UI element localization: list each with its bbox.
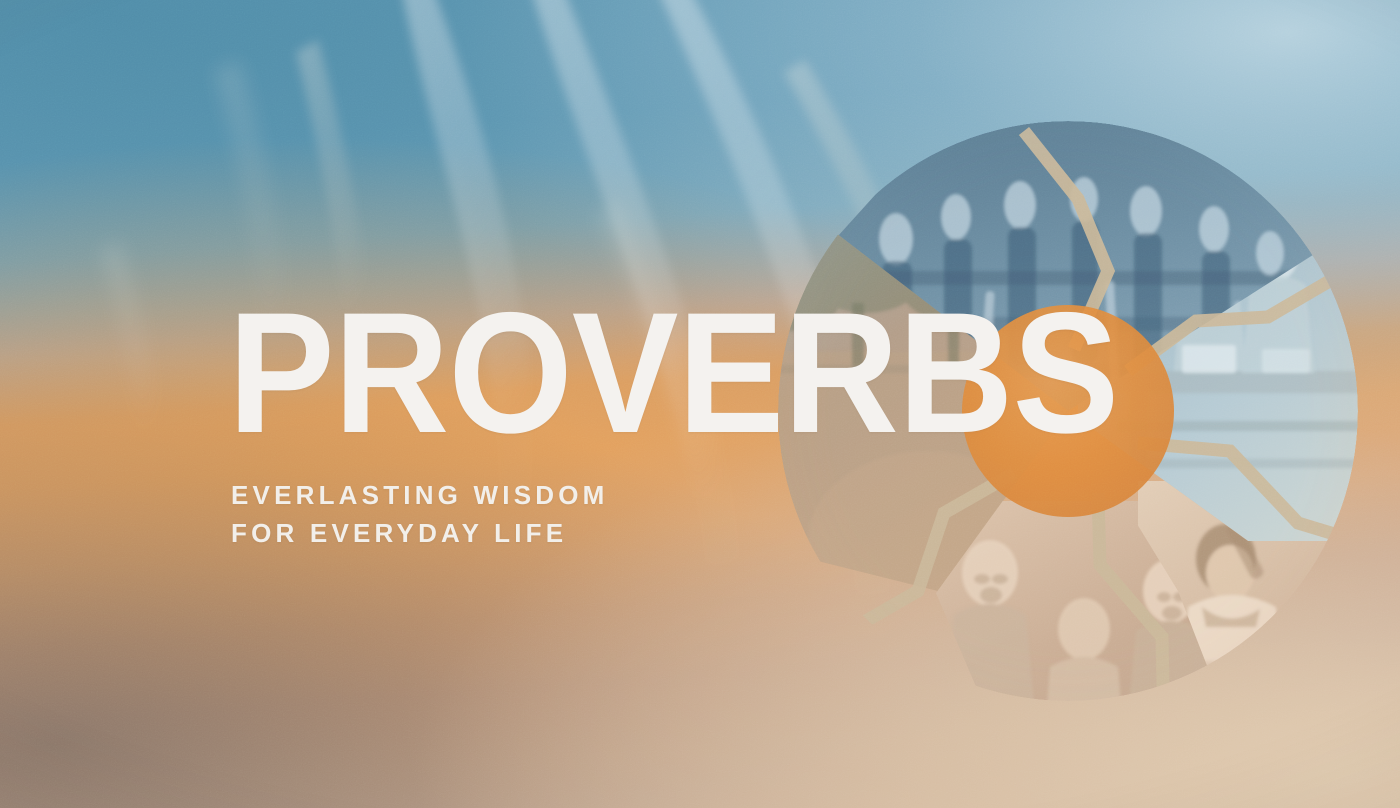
series-graphic: PROVERBS EVERLASTING WISDOM FOR EVERYDAY… [0, 0, 1400, 808]
film-grain-overlay [0, 0, 1400, 808]
